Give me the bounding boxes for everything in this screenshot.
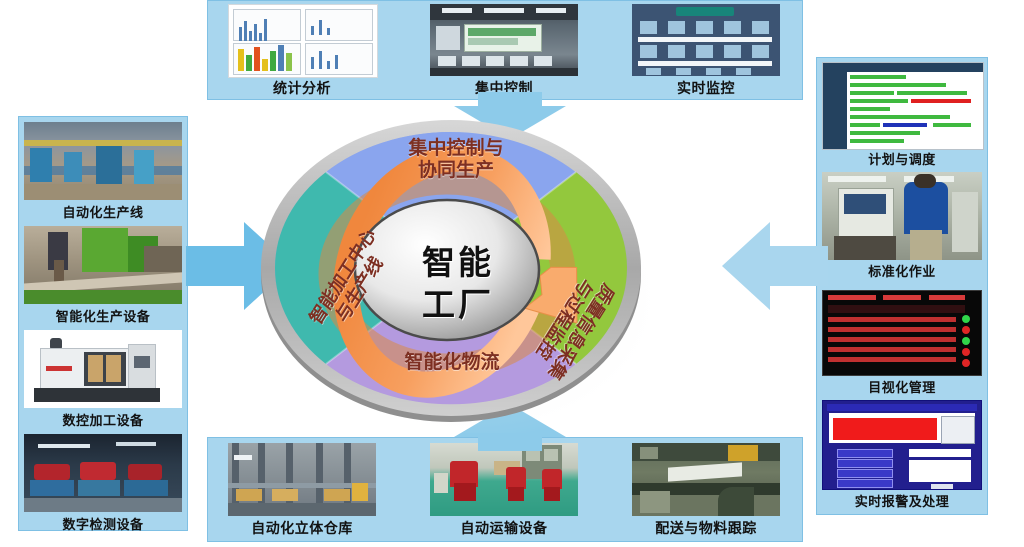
alarm-handling-screen [822, 400, 982, 490]
arrow-left [722, 212, 830, 320]
quadrant-label-top-line1: 集中控制与 [351, 138, 561, 160]
bottom-item-2-caption: 配送与物料跟踪 [632, 518, 780, 538]
digital-inspection-photo [24, 434, 182, 512]
statistics-dashboard-screen [228, 4, 378, 78]
bottom-item-0[interactable]: 自动化立体仓库 [228, 443, 376, 539]
top-item-1[interactable]: 集中控制 [430, 4, 578, 98]
realtime-monitor-screen [632, 4, 780, 76]
material-tracking-photo [632, 443, 780, 516]
bottom-item-1-caption: 自动运输设备 [430, 518, 578, 538]
left-item-2-caption: 数控加工设备 [24, 410, 182, 429]
right-item-0-caption: 计划与调度 [822, 149, 982, 168]
quadrant-label-top: 集中控制与 协同生产 [351, 138, 561, 182]
bottom-item-0-caption: 自动化立体仓库 [228, 518, 376, 538]
quadrant-label-bottom-line1: 智能化物流 [347, 352, 557, 374]
left-item-1-caption: 智能化生产设备 [24, 306, 182, 325]
quadrant-label-bottom: 智能化物流 [347, 352, 557, 374]
left-item-1[interactable]: 智能化生产设备 [24, 226, 182, 326]
right-item-3[interactable]: 实时报警及处理 [822, 400, 982, 512]
top-item-0-caption: 统计分析 [228, 78, 376, 98]
left-item-3-caption: 数字检测设备 [24, 514, 182, 533]
factory-line-photo [24, 122, 182, 200]
control-room-photo [430, 4, 578, 76]
standard-operation-photo [822, 172, 982, 260]
quadrant-label-top-line2: 协同生产 [351, 160, 561, 182]
top-item-0[interactable]: 统计分析 [228, 4, 376, 98]
left-item-3[interactable]: 数字检测设备 [24, 434, 182, 534]
top-item-2[interactable]: 实时监控 [632, 4, 780, 98]
right-item-2[interactable]: 目视化管理 [822, 290, 982, 398]
gantt-schedule-screen [822, 62, 984, 150]
left-item-2[interactable]: 数控加工设备 [24, 330, 182, 430]
cnc-machine-photo [24, 330, 182, 408]
top-item-2-caption: 实时监控 [632, 78, 780, 98]
agv-transport-photo [430, 443, 578, 516]
bottom-item-1[interactable]: 自动运输设备 [430, 443, 578, 539]
bottom-item-2[interactable]: 配送与物料跟踪 [632, 443, 780, 539]
andon-board-screen [822, 290, 982, 376]
right-item-1[interactable]: 标准化作业 [822, 172, 982, 282]
right-item-3-caption: 实时报警及处理 [822, 491, 982, 510]
robot-welder-photo [24, 226, 182, 304]
right-item-1-caption: 标准化作业 [822, 261, 982, 280]
left-item-0-caption: 自动化生产线 [24, 202, 182, 221]
asrs-warehouse-photo [228, 443, 376, 516]
right-item-2-caption: 目视化管理 [822, 377, 982, 396]
right-item-0[interactable]: 计划与调度 [822, 62, 982, 170]
smart-factory-donut: 智能 工厂 集中控制与 协同生产 智能加工中心 与生产线 质量信息采集 与过程监… [243, 108, 673, 433]
left-item-0[interactable]: 自动化生产线 [24, 122, 182, 222]
